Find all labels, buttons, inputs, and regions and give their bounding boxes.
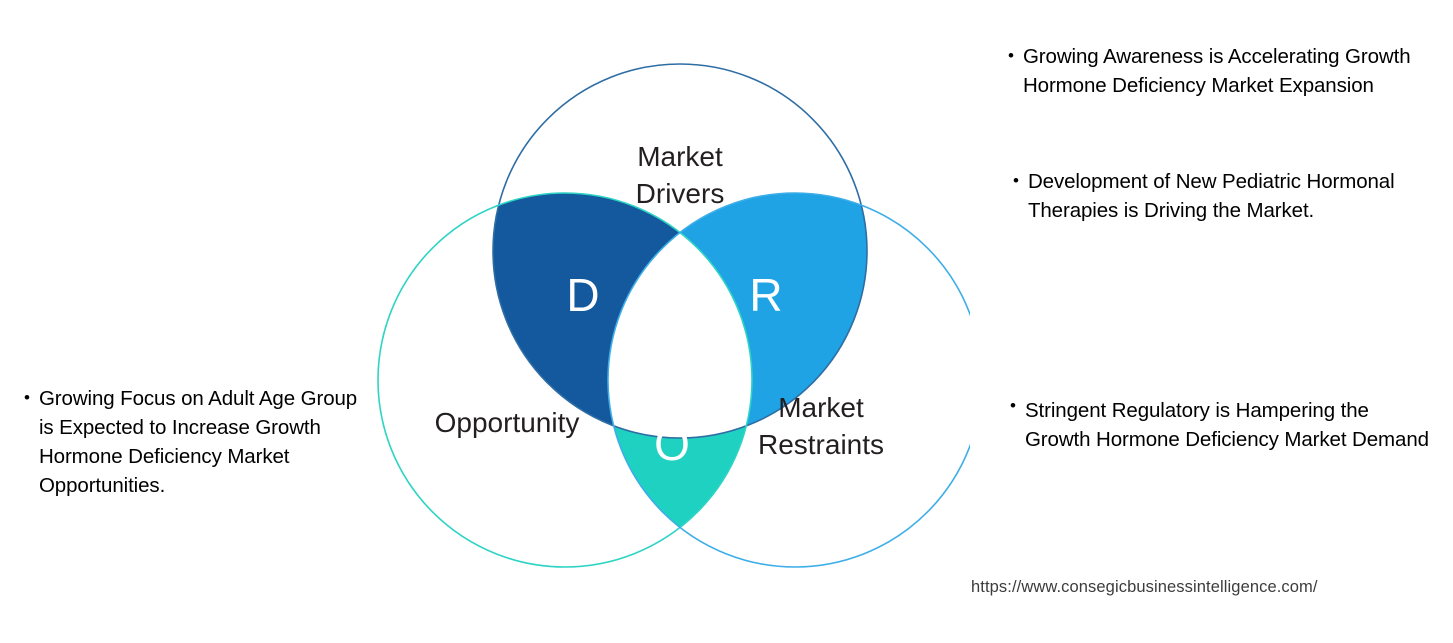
source-url[interactable]: https://www.consegicbusinessintelligence… <box>971 578 1318 597</box>
venn-letter-o: O <box>654 418 690 470</box>
bullet-growing-awareness: • Growing Awareness is Accelerating Grow… <box>1008 42 1428 100</box>
venn-label-drivers-line1: Market <box>637 141 723 172</box>
bullet-opportunity: • Growing Focus on Adult Age Group is Ex… <box>24 384 364 500</box>
bullet-stringent-regulatory: • Stringent Regulatory is Hampering the … <box>1010 396 1430 454</box>
venn-diagram-svg: Market Drivers Opportunity Market Restra… <box>375 50 970 580</box>
venn-label-restraints-line2: Restraints <box>758 429 884 460</box>
bullet-marker-icon: • <box>24 389 30 406</box>
bullet-marker-icon: • <box>1008 47 1014 64</box>
venn-diagram: Market Drivers Opportunity Market Restra… <box>375 50 970 580</box>
bullet-growing-awareness-text: Growing Awareness is Accelerating Growth… <box>1023 42 1428 100</box>
bullet-pediatric-therapies-text: Development of New Pediatric Hormonal Th… <box>1028 167 1433 225</box>
venn-label-drivers-line2: Drivers <box>636 178 725 209</box>
bullet-marker-icon: • <box>1010 397 1016 414</box>
venn-lens-fills <box>378 193 970 567</box>
venn-letter-d: D <box>566 269 599 321</box>
venn-label-opportunity: Opportunity <box>435 407 580 438</box>
venn-letter-r: R <box>749 269 782 321</box>
bullet-pediatric-therapies: • Development of New Pediatric Hormonal … <box>1013 167 1433 225</box>
bullet-marker-icon: • <box>1013 172 1019 189</box>
venn-label-restraints-line1: Market <box>778 392 864 423</box>
bullet-opportunity-text: Growing Focus on Adult Age Group is Expe… <box>39 384 364 500</box>
bullet-stringent-regulatory-text: Stringent Regulatory is Hampering the Gr… <box>1025 396 1430 454</box>
